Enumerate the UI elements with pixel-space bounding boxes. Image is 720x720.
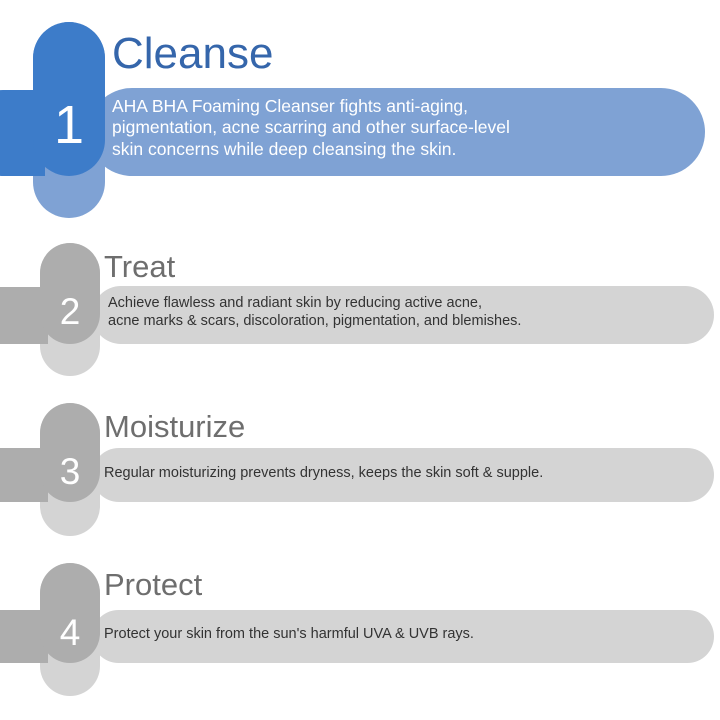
step-3-description: Regular moisturizing prevents dryness, k… [104,465,704,483]
step-2-description: Achieve flawless and radiant skin by red… [108,295,708,330]
step-1-description: AHA BHA Foaming Cleanser fights anti-agi… [112,96,712,160]
step-3-title: Moisturize [104,411,245,442]
skincare-routine-infographic: 1 Cleanse AHA BHA Foaming Cleanser fight… [0,0,720,720]
step-4-number: 4 [40,614,100,651]
step-4-description: Protect your skin from the sun's harmful… [104,626,704,644]
step-2-title: Treat [104,251,175,282]
step-4-title: Protect [104,569,202,600]
step-3-number: 3 [40,453,100,490]
step-1-title: Cleanse [112,32,273,76]
step-1-number: 1 [33,98,105,152]
step-2-number: 2 [40,293,100,330]
